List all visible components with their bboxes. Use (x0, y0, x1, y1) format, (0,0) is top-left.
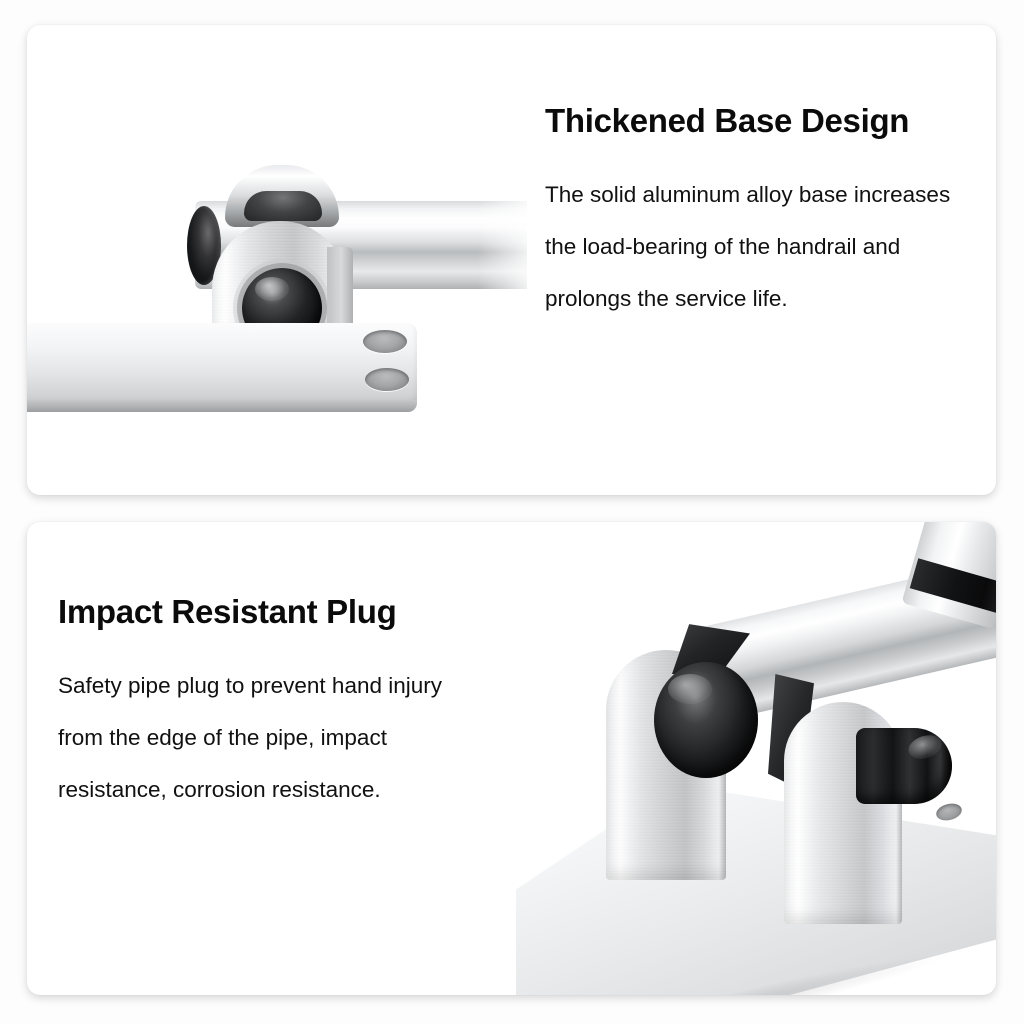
feature-description: The solid aluminum alloy base increases … (545, 169, 965, 325)
feature-title: Thickened Base Design (545, 103, 965, 139)
feature-card-thickened-base-design: Thickened Base Design The solid aluminum… (27, 25, 996, 495)
base-plate-edge (27, 400, 417, 412)
product-image-thickened-base-design (27, 25, 527, 495)
dome-highlight (255, 277, 289, 301)
feature-text-thickened-base-design: Thickened Base Design The solid aluminum… (545, 103, 965, 325)
feature-title: Impact Resistant Plug (58, 594, 478, 630)
screw-hole (363, 330, 407, 353)
screw-hole (934, 801, 963, 823)
pipe-plug-highlight (668, 674, 712, 704)
base-plate (27, 323, 417, 409)
feature-text-impact-resistant-plug: Impact Resistant Plug Safety pipe plug t… (58, 594, 478, 816)
screw-hole (365, 368, 409, 391)
page-background: Thickened Base Design The solid aluminum… (0, 0, 1024, 1024)
image-stage (516, 522, 996, 995)
feature-card-impact-resistant-plug: Impact Resistant Plug Safety pipe plug t… (27, 522, 996, 995)
product-image-impact-resistant-plug (516, 522, 996, 995)
rear-collar-shadow (244, 191, 322, 221)
feature-description: Safety pipe plug to prevent hand injury … (58, 660, 478, 816)
